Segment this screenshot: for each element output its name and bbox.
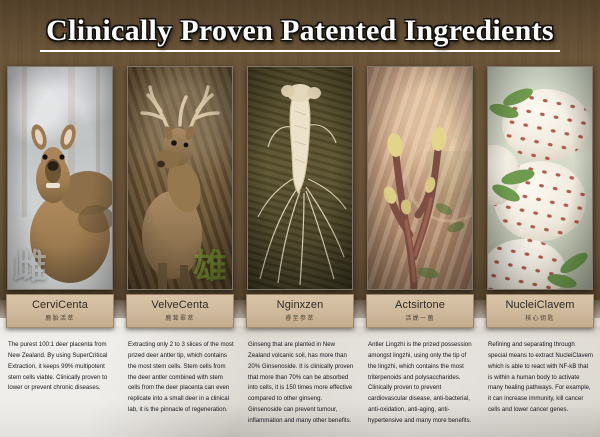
- product-photo-pineberries: [487, 66, 593, 290]
- title-container: Clinically Proven Patented Ingredients: [0, 14, 600, 52]
- product-name-en: NucleiClavem: [505, 300, 574, 312]
- product-photo-stag: 雄: [127, 66, 233, 290]
- ingredient-columns: 雌 CerviCenta 鹿胎活萃 The purest 100:1 deer …: [0, 66, 600, 437]
- stag-icon: [128, 67, 232, 289]
- product-name-cn: 鹿茸翠萃: [165, 313, 195, 322]
- ginseng-icon: [248, 67, 352, 289]
- product-name-en: Actsirtone: [395, 300, 445, 312]
- product-name-cn: 活娩一菌: [405, 313, 435, 322]
- product-name-cn: 睿至参萃: [285, 313, 315, 322]
- product-description: The purest 100:1 deer placenta from New …: [8, 340, 114, 394]
- product-label-nucleiclavem: NucleiClavem 核心钥匙: [486, 294, 594, 328]
- pineberry-icon: [488, 67, 592, 289]
- product-label-velvecenta: VelveCenta 鹿茸翠萃: [126, 294, 234, 328]
- product-description: Extracting only 2 to 3 slices of the mos…: [128, 340, 234, 416]
- product-name-en: VelveCenta: [151, 300, 208, 312]
- ingredient-card-nginxzen[interactable]: Nginxzen 睿至参萃 Ginseng that are planted i…: [240, 66, 360, 437]
- product-label-actsirtone: Actsirtone 活娩一菌: [366, 294, 474, 328]
- product-photo-ginseng: [247, 66, 353, 290]
- product-description: Ginseng that are planted in New Zealand …: [248, 340, 354, 427]
- product-photo-deer-doe: 雌: [7, 66, 113, 290]
- stag-illustration: [128, 67, 233, 290]
- ingredient-card-nucleiclavem[interactable]: NucleiClavem 核心钥匙 Refining and separatin…: [480, 66, 600, 437]
- ginseng-illustration: [248, 67, 353, 290]
- product-label-nginxzen: Nginxzen 睿至参萃: [246, 294, 354, 328]
- product-name-cn: 核心钥匙: [525, 313, 555, 322]
- product-description: Antler Lingzhi is the prized possession …: [368, 340, 474, 427]
- watermark-female: 雌: [13, 251, 47, 285]
- pineberry-illustration: [488, 67, 593, 290]
- product-name-en: CerviCenta: [32, 300, 88, 312]
- ingredient-card-velvecenta[interactable]: 雄 VelveCenta 鹿茸翠萃 Extracting only 2 to 3…: [120, 66, 240, 437]
- watermark-male: 雄: [193, 251, 227, 285]
- antler-lingzhi-illustration: [368, 67, 473, 290]
- product-name-cn: 鹿胎活萃: [45, 313, 75, 322]
- product-name-en: Nginxzen: [277, 300, 324, 312]
- product-photo-antler-lingzhi: [367, 66, 473, 290]
- deer-doe-icon: [8, 67, 112, 289]
- page-title: Clinically Proven Patented Ingredients: [40, 14, 560, 52]
- ingredient-card-cervicenta[interactable]: 雌 CerviCenta 鹿胎活萃 The purest 100:1 deer …: [0, 66, 120, 437]
- antler-lingzhi-icon: [368, 67, 472, 289]
- product-description: Refining and separating through special …: [488, 340, 594, 416]
- poster-root: Clinically Proven Patented Ingredients: [0, 0, 600, 437]
- ingredient-card-actsirtone[interactable]: Actsirtone 活娩一菌 Antler Lingzhi is the pr…: [360, 66, 480, 437]
- product-label-cervicenta: CerviCenta 鹿胎活萃: [6, 294, 114, 328]
- deer-doe-illustration: [8, 67, 113, 290]
